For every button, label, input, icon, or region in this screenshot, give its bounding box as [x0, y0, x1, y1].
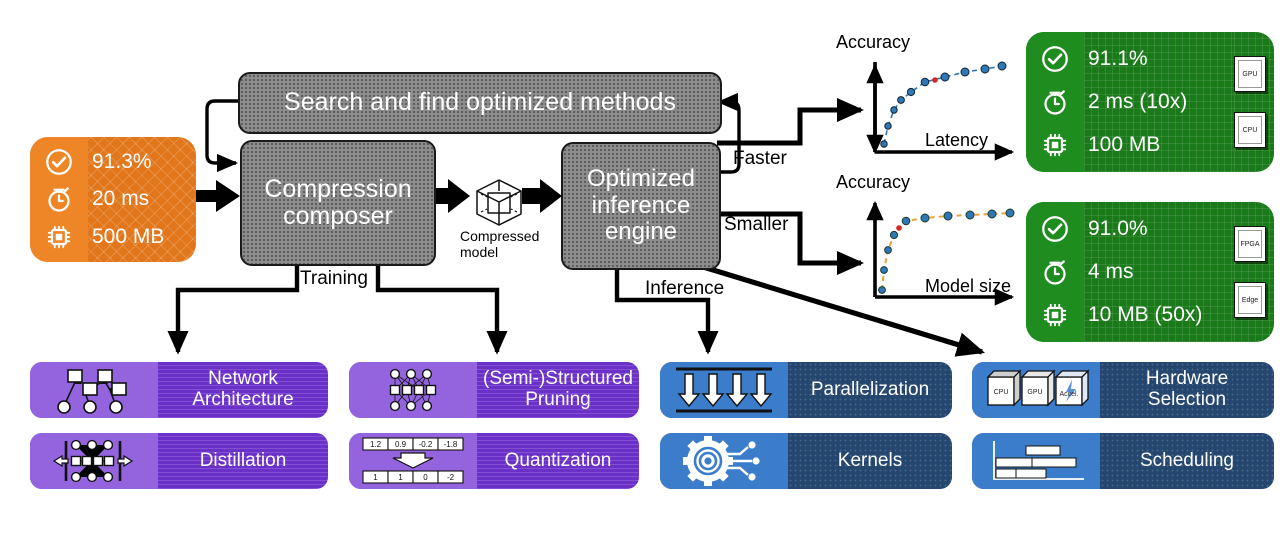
baseline-latency: 20 ms	[92, 188, 192, 210]
stopwatch-icon	[44, 184, 74, 214]
quant-after-0: 1	[373, 473, 378, 482]
method-pill-network-architecture[interactable]: Network Architecture	[30, 362, 328, 418]
method-pill-quantization[interactable]: 1.2 0.9 -0.2 -1.8 1 1 0 -2	[349, 433, 639, 489]
gantt-chart-icon	[972, 433, 1100, 489]
chip-icon	[44, 222, 74, 252]
check-circle-icon	[1040, 44, 1070, 74]
hardware-chip-fpga-icon: FPGA	[1234, 226, 1266, 262]
result1-accuracy: 91.1%	[1088, 48, 1230, 70]
method-label: Quantization	[477, 433, 639, 489]
nas-graph-icon	[30, 362, 158, 418]
chip-icon	[1040, 300, 1070, 330]
hardware-chip-cpu-icon: CPU	[1234, 112, 1266, 148]
method-pill-pruning[interactable]: (Semi-)Structured Pruning	[349, 362, 639, 418]
method-label: (Semi-)Structured Pruning	[477, 362, 639, 418]
arrow-training-right	[378, 262, 497, 352]
method-label: Hardware Selection	[1100, 362, 1274, 418]
gear-circuit-icon	[660, 433, 788, 489]
hw-label-accel: Accel.	[1059, 391, 1078, 398]
quant-before-3: -1.8	[444, 440, 458, 449]
method-label: Network Architecture	[158, 362, 328, 418]
arrow-search-to-compression	[207, 101, 238, 163]
quantization-table-icon: 1.2 0.9 -0.2 -1.8 1 1 0 -2	[349, 433, 477, 489]
compression-composer-box[interactable]: Compression composer	[240, 140, 436, 266]
result2-accuracy: 91.0%	[1088, 218, 1230, 240]
result2-hardware-chips: FPGA Edge	[1234, 202, 1274, 342]
hardware-chip-gpu-icon: GPU	[1234, 56, 1266, 92]
compressed-model-label: Compressed model	[460, 228, 546, 260]
quant-after-3: -2	[447, 473, 455, 482]
chart1-xlabel: Latency	[925, 130, 988, 151]
result1-latency: 2 ms (10x)	[1088, 91, 1230, 113]
method-label: Distillation	[158, 433, 328, 489]
search-methods-box[interactable]: Search and find optimized methods	[238, 72, 722, 134]
quant-before-0: 1.2	[370, 440, 382, 449]
edge-label-smaller: Smaller	[724, 214, 788, 236]
stopwatch-icon	[1040, 257, 1070, 287]
compressed-model-icon	[468, 176, 530, 228]
hw-label-cpu: CPU	[994, 389, 1009, 396]
stopwatch-icon	[1040, 87, 1070, 117]
baseline-size: 500 MB	[92, 226, 192, 248]
quant-after-2: 0	[423, 473, 428, 482]
diagram-canvas: 91.3% 20 ms 500 MB	[0, 0, 1280, 534]
arrow-baseline-to-compression	[196, 180, 240, 212]
result1-values: 91.1% 2 ms (10x) 100 MB	[1084, 32, 1234, 172]
hardware-chip-edge-icon: Edge	[1234, 282, 1266, 318]
method-label: Parallelization	[788, 362, 952, 418]
result1-hardware-chips: GPU CPU	[1234, 32, 1274, 172]
result2-icon-column	[1026, 202, 1084, 342]
method-label: Kernels	[788, 433, 952, 489]
edge-label-inference: Inference	[645, 278, 724, 300]
result-metric-card-1: 91.1% 2 ms (10x) 100 MB GPU CPU	[1026, 32, 1274, 172]
arrow-compression-to-model	[430, 179, 470, 213]
baseline-icon-column	[30, 137, 88, 262]
method-label: Scheduling	[1100, 433, 1274, 489]
hardware-boxes-icon: CPU GPU Accel.	[972, 362, 1100, 418]
quant-before-2: -0.2	[419, 440, 433, 449]
hardware-chip-label: GPU	[1242, 71, 1257, 78]
distillation-network-icon	[30, 433, 158, 489]
hardware-chip-label: CPU	[1243, 127, 1258, 134]
baseline-metric-card: 91.3% 20 ms 500 MB	[30, 137, 196, 262]
chip-icon	[1040, 130, 1070, 160]
chart2-xlabel: Model size	[925, 276, 1011, 297]
method-pill-kernels[interactable]: Kernels	[660, 433, 952, 489]
quant-before-1: 0.9	[395, 440, 407, 449]
result2-latency: 4 ms	[1088, 261, 1230, 283]
result1-size: 100 MB	[1088, 134, 1230, 156]
down-arrow-icon	[393, 453, 433, 468]
method-pill-scheduling[interactable]: Scheduling	[972, 433, 1274, 489]
baseline-values: 91.3% 20 ms 500 MB	[88, 137, 196, 262]
quant-after-1: 1	[398, 473, 403, 482]
hardware-chip-label: FPGA	[1240, 241, 1259, 248]
parallel-arrows-icon	[660, 362, 788, 418]
result2-values: 91.0% 4 ms 10 MB (50x)	[1084, 202, 1234, 342]
arrow-training-left	[178, 262, 297, 352]
check-circle-icon	[1040, 214, 1070, 244]
method-pill-hardware-selection[interactable]: CPU GPU Accel. Hardware Selection	[972, 362, 1274, 418]
result2-size: 10 MB (50x)	[1088, 304, 1230, 326]
hardware-chip-label: Edge	[1242, 297, 1258, 304]
baseline-accuracy: 91.3%	[92, 151, 192, 173]
result-metric-card-2: 91.0% 4 ms 10 MB (50x) FPGA Edge	[1026, 202, 1274, 342]
edge-label-training: Training	[300, 268, 368, 290]
edge-label-faster: Faster	[733, 148, 787, 170]
result1-icon-column	[1026, 32, 1084, 172]
arrow-faster-to-latency-chart	[717, 110, 861, 143]
method-pill-parallelization[interactable]: Parallelization	[660, 362, 952, 418]
hw-label-gpu: GPU	[1027, 389, 1042, 396]
chart1-ylabel: Accuracy	[836, 32, 910, 53]
method-pill-distillation[interactable]: Distillation	[30, 433, 328, 489]
pruned-network-icon	[349, 362, 477, 418]
optimized-inference-engine-box[interactable]: Optimized inference engine	[561, 142, 721, 270]
chart2-ylabel: Accuracy	[836, 172, 910, 193]
check-circle-icon	[44, 147, 74, 177]
